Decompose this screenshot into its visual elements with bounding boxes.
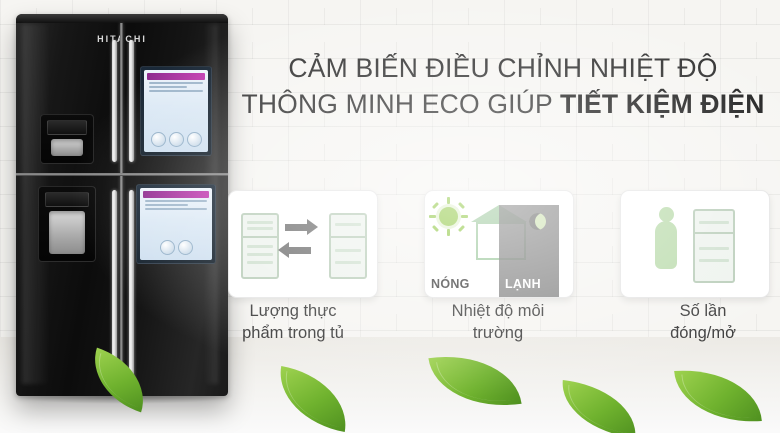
mini-shelf	[699, 259, 729, 262]
sticker-lower	[136, 184, 216, 264]
card-ambient-temperature: NÓNG LẠNH	[424, 190, 574, 298]
dispenser-well	[51, 139, 83, 156]
sun-ray	[447, 197, 450, 204]
sun-icon	[439, 207, 458, 226]
mini-shelf	[699, 247, 729, 250]
leaf-vein	[436, 352, 515, 410]
caption-food-amount-line1: Lượng thực	[208, 300, 378, 322]
mini-shelf	[247, 227, 273, 230]
headline-line-2: THÔNG MINH ECO GIÚP TIẾT KIỆM ĐIỆN	[236, 86, 770, 122]
caption-food-amount-line2: phẩm trong tủ	[208, 322, 378, 344]
fridge-seam-upper	[120, 23, 123, 173]
door-open-count-icon	[621, 191, 769, 297]
refrigerator-product-image: HITACHI	[16, 14, 228, 396]
ambient-temperature-icon: NÓNG LẠNH	[425, 191, 573, 297]
fridge-handle-lower-left	[112, 190, 117, 380]
dispenser-display	[47, 120, 87, 135]
sticker-lower-title	[143, 191, 209, 198]
caption-ambient-line2: trường	[413, 322, 583, 344]
fridge-handle-lower-right	[129, 190, 134, 380]
leaf-vein	[278, 371, 348, 427]
sticker-badge	[169, 132, 184, 147]
person-body	[655, 221, 677, 269]
caption-food-amount: Lượng thực phẩm trong tủ	[208, 300, 378, 360]
sun-ray	[461, 215, 468, 218]
fridge-top-cap	[16, 14, 228, 23]
sticker-line	[149, 90, 203, 92]
arrow-right-icon	[307, 219, 318, 235]
fridge-handle-upper-right	[129, 40, 134, 162]
leaf-blade	[674, 365, 762, 427]
ice-dispenser	[40, 114, 94, 164]
headline-line-1: CẢM BIẾN ĐIỀU CHỈNH NHIỆT ĐỘ	[288, 53, 717, 83]
feature-card-row: NÓNG LẠNH	[228, 190, 770, 300]
caption-door-line1: Số lần	[618, 300, 780, 322]
mini-shelf	[335, 261, 361, 264]
moon-icon	[529, 213, 546, 230]
headline: CẢM BIẾN ĐIỀU CHỈNH NHIỆT ĐỘ THÔNG MINH …	[236, 50, 770, 122]
sticker-line	[145, 204, 188, 206]
arrow-left-stem	[289, 247, 311, 254]
label-cold: LẠNH	[505, 277, 541, 291]
person-head	[659, 207, 674, 222]
leaf-blade	[428, 346, 521, 415]
sticker-badge	[160, 240, 175, 255]
arrow-right-stem	[285, 224, 307, 231]
food-amount-icon	[229, 191, 377, 297]
water-dispenser-well	[49, 211, 85, 254]
sun-ray	[432, 225, 439, 232]
mini-shelf	[247, 221, 273, 224]
sticker-upper-art	[144, 70, 208, 152]
sticker-badges	[144, 240, 208, 255]
caption-door-line2: đóng/mở	[618, 322, 780, 344]
card-door-open-count	[620, 190, 770, 298]
caption-door-open-count: Số lần đóng/mở	[618, 300, 780, 360]
fridge-seam-middle	[16, 173, 228, 176]
leaf-vein	[681, 370, 756, 422]
card-food-amount	[228, 190, 378, 298]
water-dispenser	[38, 186, 96, 262]
fridge-handle-upper-left	[112, 40, 117, 162]
leaf-decoration	[558, 380, 641, 433]
sticker-lower-art	[140, 188, 212, 260]
caption-ambient-line1: Nhiệt độ môi	[413, 300, 583, 322]
mini-fridge-door	[693, 209, 735, 283]
sun-ray	[432, 202, 439, 209]
mini-fridge-empty	[329, 213, 367, 279]
promo-banner: HITACHI	[0, 0, 780, 433]
sticker-line	[145, 208, 207, 210]
leaf-decoration	[674, 365, 762, 427]
mini-shelf	[247, 261, 273, 264]
sticker-upper-title	[147, 73, 205, 80]
sticker-line	[145, 200, 207, 202]
sun-ray	[458, 225, 465, 232]
leaf-vein	[564, 385, 635, 433]
leaf-decoration	[428, 346, 521, 415]
sticker-badge	[151, 132, 166, 147]
mini-shelf	[699, 221, 729, 224]
sticker-line	[149, 86, 187, 88]
headline-line-2-prefix: THÔNG MINH ECO GIÚP	[241, 89, 560, 119]
sticker-badges	[148, 132, 204, 147]
sticker-badge	[187, 132, 202, 147]
sticker-line	[149, 82, 203, 84]
label-hot: NÓNG	[431, 277, 470, 291]
leaf-blade	[558, 380, 641, 433]
sun-ray	[429, 215, 436, 218]
water-dispenser-display	[45, 192, 89, 207]
mini-shelf	[335, 249, 361, 252]
sun-ray	[447, 229, 450, 236]
mini-fridge-full	[241, 213, 279, 279]
sticker-upper	[140, 66, 212, 156]
arrow-left-icon	[278, 242, 289, 258]
headline-line-2-bold: TIẾT KIỆM ĐIỆN	[560, 89, 765, 119]
mini-shelf	[247, 245, 273, 248]
mini-shelf	[335, 223, 361, 226]
sun-ray	[458, 202, 465, 209]
sticker-badge	[178, 240, 193, 255]
mini-shelf	[247, 253, 273, 256]
